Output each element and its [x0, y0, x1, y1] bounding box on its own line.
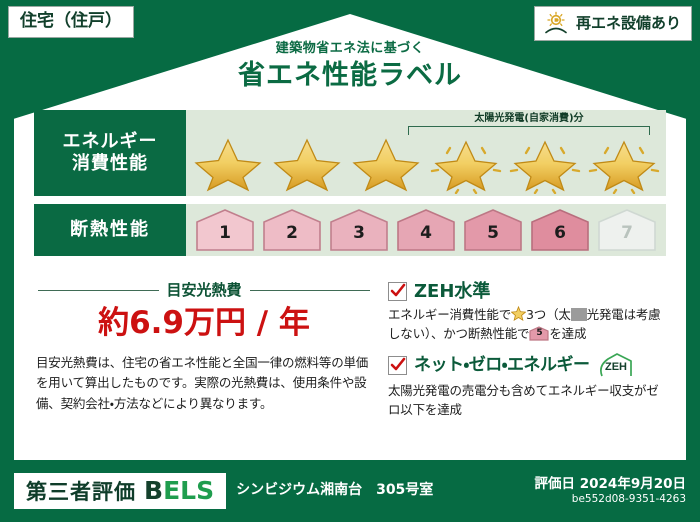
insulation-level-badge-inline: 5 — [529, 326, 549, 341]
energy-performance-label: 住宅（住戸） 再エネ設備あり 建築物省エネ法に基づく — [0, 0, 700, 522]
insulation-level-number: 7 — [596, 225, 658, 242]
zeh-desc-part4: を達成 — [549, 326, 586, 341]
insulation-level-house: 4 — [395, 208, 457, 252]
insulation-level-number: 3 — [328, 225, 390, 242]
criteria-zeh-title: ZEH水準 — [414, 282, 490, 302]
rule-right — [250, 290, 371, 292]
star-icon — [271, 134, 343, 194]
check-icon — [388, 282, 407, 301]
bels-letters-els: ELS — [163, 476, 214, 505]
insulation-performance-value: 1 2 3 — [186, 204, 666, 256]
solar-annotation: 太陽光発電(自家消費)分 — [408, 113, 650, 135]
zeh-house-logo: ZEH — [597, 352, 637, 378]
insulation-level-house: 2 — [261, 208, 323, 252]
performance-panel: エネルギー 消費性能 太陽光発電(自家消費)分 — [34, 110, 666, 264]
criteria-net-zero-title: ネット・ゼロ・エネルギー — [414, 356, 590, 375]
insulation-level-house: 5 — [462, 208, 524, 252]
insulation-level-number: 2 — [261, 225, 323, 242]
insulation-level-house-inactive: 7 — [596, 208, 658, 252]
star-icon-solar — [430, 134, 502, 194]
svg-text:ZEH: ZEH — [605, 361, 627, 373]
utility-cost-value: 約6.9万円 / 年 — [34, 306, 374, 342]
insulation-level-house: 6 — [529, 208, 591, 252]
rule-left — [38, 290, 159, 292]
solar-sun-icon — [543, 11, 569, 35]
evaluation-date: 評価日 2024年9月20日 — [535, 476, 686, 492]
energy-label-line2: 消費性能 — [72, 153, 148, 176]
criteria-net-zero-description: 太陽光発電の売電分も含めてエネルギー収支がゼロ以下を達成 — [388, 382, 666, 420]
energy-label-line1: エネルギー — [63, 131, 158, 154]
insulation-performance-row: 断熱性能 1 2 — [34, 204, 666, 256]
criteria-net-zero-header: ネット・ゼロ・エネルギー ZEH — [388, 352, 666, 378]
star-icon — [350, 134, 422, 194]
insulation-level-number: 6 — [529, 225, 591, 242]
utility-cost-title: 目安光熱費 — [167, 282, 242, 299]
zeh-desc-part2: 3つ（太 — [526, 307, 571, 322]
heading-title: 省エネ性能ラベル — [0, 60, 700, 91]
energy-performance-row: エネルギー 消費性能 太陽光発電(自家消費)分 — [34, 110, 666, 196]
utility-cost-section: 目安光熱費 約6.9万円 / 年 目安光熱費は、住宅の省エネ性能と全国一律の燃料… — [34, 282, 374, 429]
criteria-section: ZEH水準 エネルギー消費性能で3つ（太光発電は考慮しない）、かつ断熱性能で5を… — [374, 282, 666, 429]
renewable-energy-badge: 再エネ設備あり — [534, 6, 692, 41]
star-icon-solar — [509, 134, 581, 194]
insulation-level-number: 5 — [462, 225, 524, 242]
label-heading: 建築物省エネ法に基づく 省エネ性能ラベル — [0, 42, 700, 91]
footer-meta: 評価日 2024年9月20日 be552d08-9351-4263 — [535, 476, 686, 507]
zeh-desc-part1: エネルギー消費性能で — [388, 307, 511, 322]
property-name: シンビジウム湘南台 305号室 — [236, 483, 433, 498]
solar-annotation-bracket — [408, 126, 650, 135]
insulation-level-number: 1 — [194, 225, 256, 242]
criteria-zeh-header: ZEH水準 — [388, 282, 666, 302]
criteria-zeh-level: ZEH水準 エネルギー消費性能で3つ（太光発電は考慮しない）、かつ断熱性能で5を… — [388, 282, 666, 343]
energy-stars — [192, 134, 660, 194]
check-icon — [388, 356, 407, 375]
star-icon-solar — [588, 134, 660, 194]
evaluation-uid: be552d08-9351-4263 — [535, 493, 686, 507]
renewable-badge-label: 再エネ設備あり — [576, 15, 681, 32]
insulation-level-number: 4 — [395, 225, 457, 242]
category-tag: 住宅（住戸） — [8, 6, 134, 38]
star-icon — [192, 134, 264, 194]
bels-logo: BELS — [144, 477, 214, 505]
lower-content: 目安光熱費 約6.9万円 / 年 目安光熱費は、住宅の省エネ性能と全国一律の燃料… — [34, 282, 666, 429]
footer-bar: 第三者評価 BELS シンビジウム湘南台 305号室 評価日 2024年9月20… — [0, 460, 700, 522]
energy-performance-label: エネルギー 消費性能 — [34, 110, 186, 196]
bels-plate: 第三者評価 BELS — [14, 473, 226, 510]
utility-cost-note: 目安光熱費は、住宅の省エネ性能と全国一律の燃料等の単価を用いて算出したものです。… — [34, 353, 374, 414]
redacted-block — [571, 308, 587, 321]
criteria-net-zero-energy: ネット・ゼロ・エネルギー ZEH 太陽光発電の売電分も含めてエネルギー収支がゼロ… — [388, 352, 666, 420]
energy-performance-value: 太陽光発電(自家消費)分 — [186, 110, 666, 196]
third-party-label: 第三者評価 — [26, 481, 136, 504]
insulation-level-house: 1 — [194, 208, 256, 252]
solar-annotation-text: 太陽光発電(自家消費)分 — [408, 113, 650, 124]
heading-subtitle: 建築物省エネ法に基づく — [0, 42, 700, 56]
criteria-zeh-description: エネルギー消費性能で3つ（太光発電は考慮しない）、かつ断熱性能で5を達成 — [388, 306, 666, 344]
inline-house-level: 5 — [529, 329, 549, 338]
insulation-performance-label: 断熱性能 — [34, 204, 186, 256]
utility-cost-header: 目安光熱費 — [34, 282, 374, 299]
insulation-level-house: 3 — [328, 208, 390, 252]
star-icon-inline — [511, 306, 526, 321]
bels-letter-b: B — [144, 476, 163, 505]
insulation-levels: 1 2 3 — [194, 208, 658, 252]
